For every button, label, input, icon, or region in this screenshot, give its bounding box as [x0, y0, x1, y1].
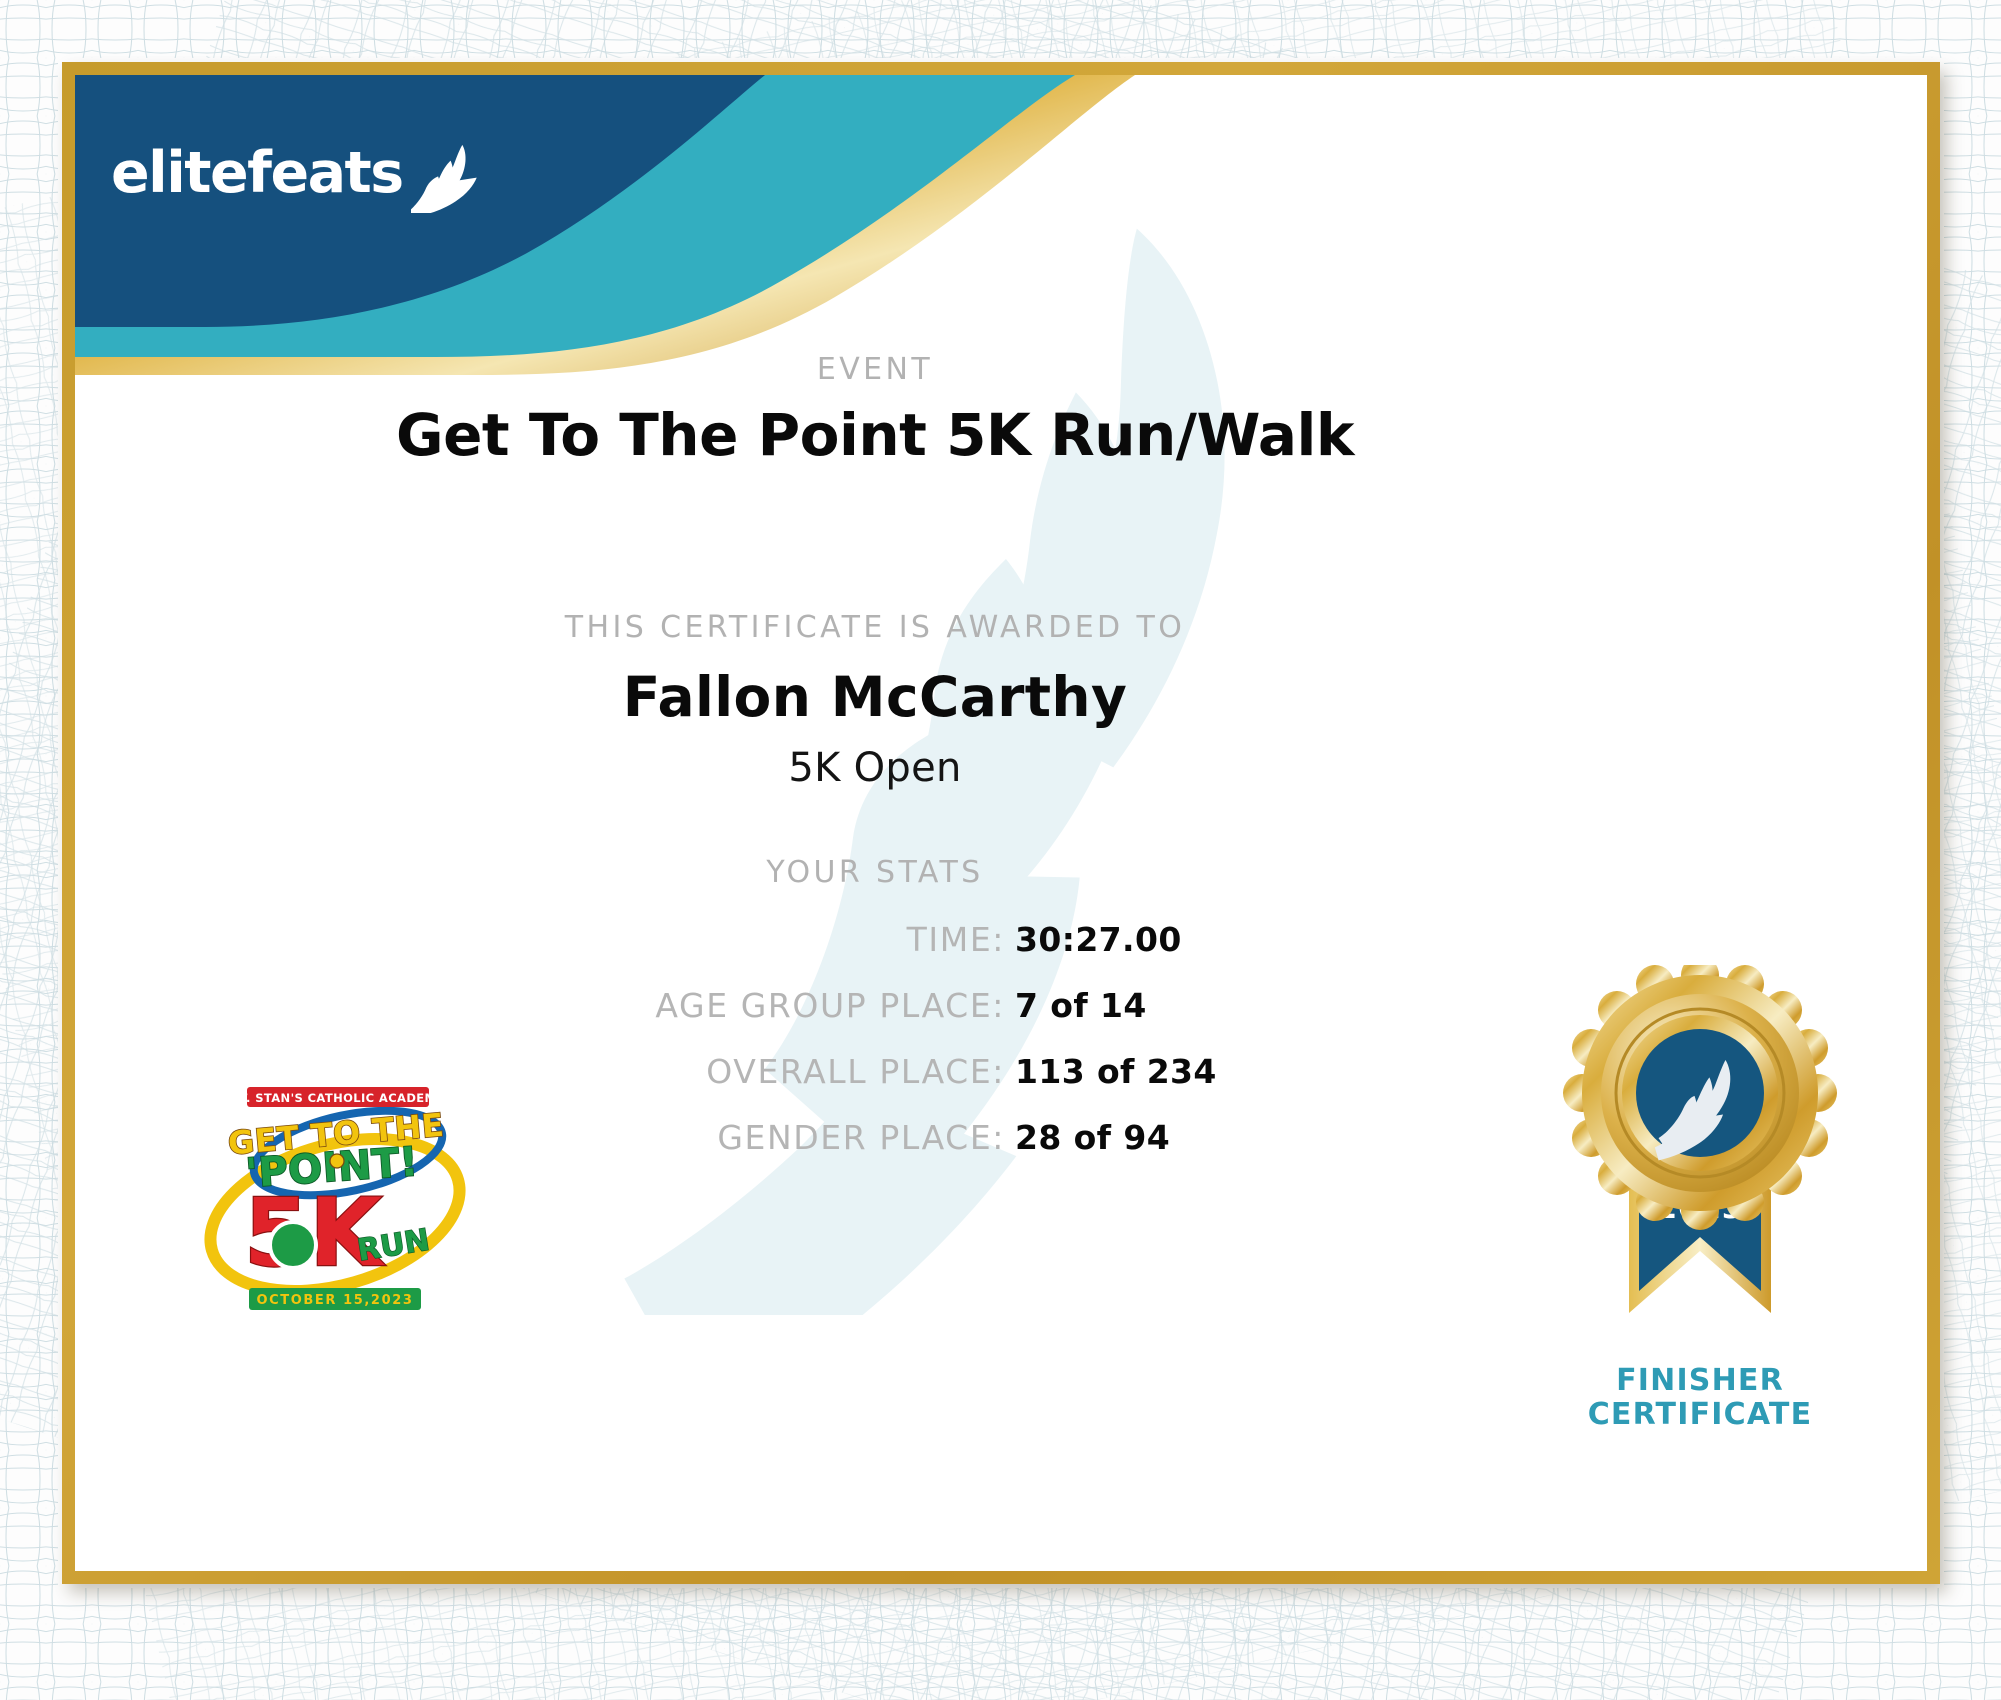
- elitefeats-logo: elitefeats: [111, 133, 477, 213]
- race-event-logo: ST. STAN'S CATHOLIC ACADEMY GET TO THE '…: [185, 1075, 485, 1335]
- stat-label: TIME:: [75, 920, 1015, 959]
- elitefeats-wordmark: elitefeats: [111, 145, 403, 202]
- stat-row: AGE GROUP PLACE:7 of 14: [75, 986, 1675, 1030]
- gold-border-frame: elitefeats EVENT Get To The Point 5K Run…: [62, 62, 1940, 1584]
- certificate-page: elitefeats EVENT Get To The Point 5K Run…: [0, 0, 2001, 1700]
- event-label: EVENT: [75, 352, 1675, 387]
- finisher-caption: FINISHER CERTIFICATE: [1530, 1364, 1870, 1431]
- finisher-medal-badge: 2023: [1530, 965, 1870, 1431]
- stat-value: 113 of 234: [1015, 1052, 1217, 1091]
- stat-label: AGE GROUP PLACE:: [75, 986, 1015, 1025]
- awarded-to-label: THIS CERTIFICATE IS AWARDED TO: [75, 610, 1675, 645]
- race-logo-date: OCTOBER 15,2023: [256, 1293, 413, 1308]
- certificate-card: elitefeats EVENT Get To The Point 5K Run…: [75, 75, 1927, 1571]
- winged-foot-icon: [411, 141, 477, 213]
- division-label: 5K Open: [75, 745, 1675, 791]
- finisher-caption-line1: FINISHER: [1530, 1364, 1870, 1398]
- stat-row: TIME:30:27.00: [75, 920, 1675, 964]
- your-stats-label: YOUR STATS: [75, 855, 1675, 890]
- event-title: Get To The Point 5K Run/Walk: [75, 401, 1675, 469]
- stat-value: 30:27.00: [1015, 920, 1182, 959]
- recipient-name: Fallon McCarthy: [75, 665, 1675, 729]
- stat-value: 7 of 14: [1015, 986, 1147, 1025]
- finisher-caption-line2: CERTIFICATE: [1530, 1398, 1870, 1432]
- stat-value: 28 of 94: [1015, 1118, 1170, 1157]
- medal-rosette-icon: 2023: [1555, 965, 1845, 1355]
- race-logo-academy: ST. STAN'S CATHOLIC ACADEMY: [231, 1091, 446, 1105]
